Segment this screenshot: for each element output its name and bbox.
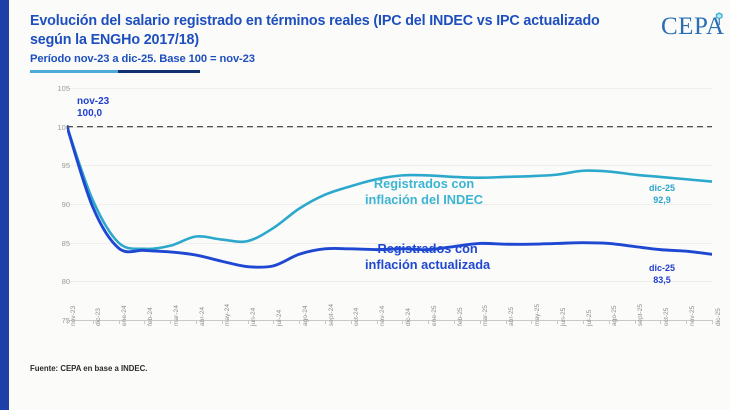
annotation-start-period: nov-23 [77, 96, 109, 108]
slide-header: Evolución del salario registrado en térm… [9, 0, 730, 78]
x-axis-tick-mark [299, 320, 300, 324]
series-label-actualizada-line1: Registrados con [365, 241, 490, 257]
x-axis-tick-mark [660, 320, 661, 324]
annotation-start-number: 100,0 [77, 108, 109, 120]
x-axis-tick-label: dic-25 [715, 308, 722, 326]
x-axis-tick-label: ene-25 [431, 305, 438, 326]
x-axis-tick-label: ago-25 [611, 305, 618, 326]
x-axis-tick-label: oct-24 [353, 308, 360, 326]
x-axis-tick-mark [222, 320, 223, 324]
x-axis-tick-label: sept-25 [637, 304, 644, 326]
y-axis-tick-label: 100 [40, 123, 70, 132]
x-axis-tick-mark [170, 320, 171, 324]
x-axis-tick-mark [119, 320, 120, 324]
x-axis-tick-label: feb-24 [147, 307, 154, 326]
title-underline-rule [30, 70, 200, 73]
x-axis-tick-label: jul-25 [586, 310, 593, 326]
x-axis-tick-mark [67, 320, 68, 324]
x-axis-tick-label: jul-24 [276, 310, 283, 326]
x-axis-tick-label: jun-24 [250, 308, 257, 326]
x-axis-tick-label: oct-25 [663, 308, 670, 326]
rule-segment-dark [118, 70, 200, 73]
y-axis-tick-label: 95 [40, 161, 70, 170]
x-axis-tick-mark [93, 320, 94, 324]
left-accent-bar [0, 0, 9, 410]
x-axis-tick-mark [273, 320, 274, 324]
x-axis-tick-mark [196, 320, 197, 324]
y-axis-tick-label: 85 [40, 239, 70, 248]
annotation-actualizada-end: dic-25 83,5 [649, 263, 675, 286]
cepa-logo-icon [711, 11, 727, 32]
x-axis-tick-mark [402, 320, 403, 324]
source-footnote: Fuente: CEPA en base a INDEC. [30, 364, 147, 373]
x-axis-tick-mark [583, 320, 584, 324]
slide-page: Evolución del salario registrado en térm… [9, 0, 730, 410]
x-axis-tick-label: abr-24 [199, 307, 206, 326]
x-axis-tick-mark [325, 320, 326, 324]
annotation-actualizada-end-period: dic-25 [649, 263, 675, 275]
x-axis-tick-label: abr-25 [508, 307, 515, 326]
annotation-indec-end-number: 92,9 [649, 195, 675, 207]
series-label-actualizada-line2: inflación actualizada [365, 257, 490, 273]
x-axis-tick-label: nov-23 [70, 306, 77, 326]
x-axis-tick-mark [635, 320, 636, 324]
x-axis-tick-mark [557, 320, 558, 324]
x-axis-tick-mark [428, 320, 429, 324]
x-axis-tick-mark [351, 320, 352, 324]
x-axis-tick-label: may-24 [224, 304, 231, 326]
cepa-logo: CEPA [661, 11, 727, 45]
x-axis-tick-mark [531, 320, 532, 324]
x-axis-tick-mark [377, 320, 378, 324]
x-axis-tick-label: ene-24 [121, 305, 128, 326]
page-subtitle: Período nov-23 a dic-25. Base 100 = nov-… [30, 53, 550, 65]
annotation-start-value: nov-23 100,0 [77, 96, 109, 119]
y-axis-tick-label: 105 [40, 84, 70, 93]
x-axis-tick-mark [712, 320, 713, 324]
x-axis-tick-mark [144, 320, 145, 324]
series-label-indec: Registrados con inflación del INDEC [365, 176, 483, 208]
series-label-indec-line1: Registrados con [365, 176, 483, 192]
x-axis-tick-mark [609, 320, 610, 324]
x-axis-tick-label: feb-25 [457, 307, 464, 326]
page-title: Evolución del salario registrado en térm… [30, 12, 630, 50]
series-label-indec-line2: inflación del INDEC [365, 192, 483, 208]
y-axis-tick-label: 75 [40, 316, 70, 325]
x-axis-tick-label: ago-24 [302, 305, 309, 326]
x-axis-tick-label: sept-24 [328, 304, 335, 326]
series-label-actualizada: Registrados con inflación actualizada [365, 241, 490, 273]
x-axis-tick-label: mar-24 [173, 305, 180, 326]
x-axis-tick-label: jun-25 [560, 308, 567, 326]
x-axis-tick-label: nov-25 [689, 306, 696, 326]
x-axis-tick-mark [454, 320, 455, 324]
annotation-indec-end: dic-25 92,9 [649, 183, 675, 206]
line-chart: 105 100 95 90 85 80 75 nov-23dic-23ene-2… [30, 80, 730, 338]
x-axis-tick-mark [686, 320, 687, 324]
x-axis-tick-label: dic-23 [95, 308, 102, 326]
annotation-indec-end-period: dic-25 [649, 183, 675, 195]
x-axis-tick-mark [480, 320, 481, 324]
rule-segment-light [30, 70, 118, 73]
x-axis-tick-mark [506, 320, 507, 324]
x-axis-tick-label: may-25 [534, 304, 541, 326]
y-axis-tick-label: 90 [40, 200, 70, 209]
annotation-actualizada-end-number: 83,5 [649, 275, 675, 287]
x-axis-tick-mark [248, 320, 249, 324]
x-axis-tick-label: nov-24 [379, 306, 386, 326]
x-axis-tick-label: dic-24 [405, 308, 412, 326]
y-axis-tick-label: 80 [40, 277, 70, 286]
x-axis-tick-label: mar-25 [482, 305, 489, 326]
